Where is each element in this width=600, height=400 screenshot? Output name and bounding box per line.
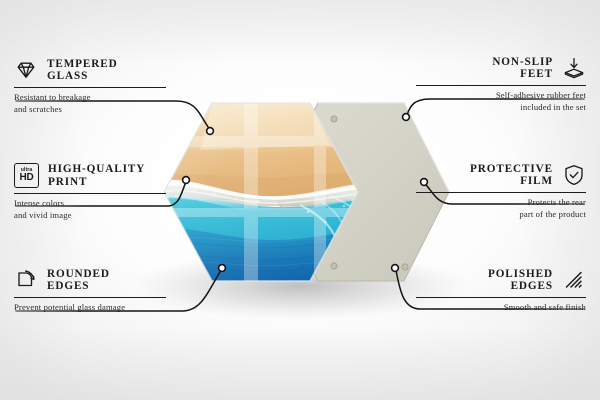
- feature-title: NON-SLIP: [492, 56, 553, 68]
- feature-title: EDGES: [47, 280, 110, 292]
- feature-title: POLISHED: [488, 268, 553, 280]
- feature-rule: [14, 87, 166, 88]
- feature-desc: and scratches: [14, 103, 166, 115]
- rounded-corner-icon: [14, 268, 38, 292]
- feature-desc: Resistant to breakage: [14, 91, 166, 103]
- feature-title: GLASS: [47, 70, 118, 82]
- feature-title: FILM: [470, 175, 553, 187]
- feature-title: EDGES: [488, 280, 553, 292]
- feature-rule: [14, 193, 166, 194]
- feature-title: ROUNDED: [47, 268, 110, 280]
- feature-protective-film: PROTECTIVE FILM Protects the rear part o…: [416, 163, 586, 221]
- connector-dot-high-quality-print: [183, 177, 190, 184]
- feature-desc: and vivid image: [14, 209, 166, 221]
- feature-polished-edges: POLISHED EDGES Smooth and safe finish: [416, 268, 586, 313]
- feature-rule: [416, 85, 586, 86]
- feature-high-quality-print: ultra HD HIGH-QUALITY PRINT Intense colo…: [14, 163, 166, 221]
- connector-dot-tempered-glass: [207, 128, 214, 135]
- feature-title: HIGH-QUALITY: [48, 163, 145, 175]
- feature-title: PRINT: [48, 176, 145, 188]
- diamond-icon: [14, 58, 38, 82]
- feature-tempered-glass: TEMPERED GLASS Resistant to breakage and…: [14, 58, 166, 116]
- ultra-hd-icon: ultra HD: [14, 163, 39, 188]
- feature-desc: Intense colors: [14, 197, 166, 209]
- shield-check-icon: [562, 163, 586, 187]
- feature-desc: included in the set: [416, 101, 586, 113]
- feature-desc: Protects the rear: [416, 196, 586, 208]
- connector-dot-polished-edges: [392, 265, 399, 272]
- press-pad-icon: [562, 56, 586, 80]
- connector-dot-non-slip-feet: [403, 114, 410, 121]
- feature-desc: Prevent potential glass damage: [14, 301, 166, 313]
- feature-desc: Smooth and safe finish: [416, 301, 586, 313]
- feature-desc: part of the product: [416, 208, 586, 220]
- feature-non-slip-feet: NON-SLIP FEET Self-adhesive rubber feet …: [416, 56, 586, 114]
- feature-title: FEET: [492, 68, 553, 80]
- diagonal-stripes-icon: [562, 268, 586, 292]
- feature-rule: [14, 297, 166, 298]
- feature-rounded-edges: ROUNDED EDGES Prevent potential glass da…: [14, 268, 166, 313]
- connector-dot-rounded-edges: [219, 265, 226, 272]
- feature-rule: [416, 192, 586, 193]
- feature-title: PROTECTIVE: [470, 163, 553, 175]
- feature-rule: [416, 297, 586, 298]
- feature-desc: Self-adhesive rubber feet: [416, 89, 586, 101]
- ultra-hd-icon-large-text: HD: [19, 173, 33, 183]
- infographic-canvas: TEMPERED GLASS Resistant to breakage and…: [0, 0, 600, 400]
- feature-title: TEMPERED: [47, 58, 118, 70]
